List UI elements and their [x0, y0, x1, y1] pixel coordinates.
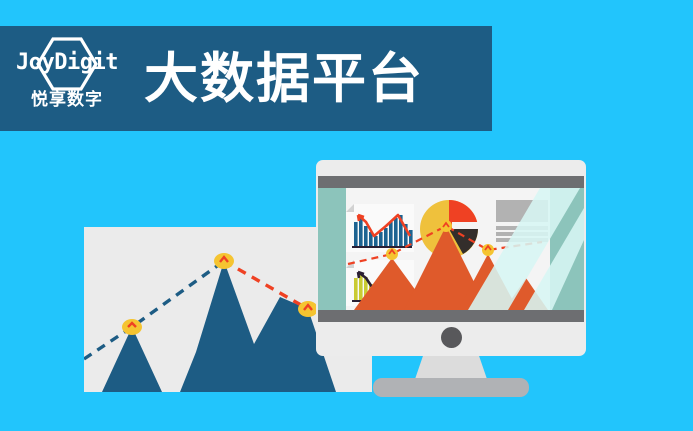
illustration-canvas: JoyDigit 悦享数字 大数据平台	[0, 0, 693, 431]
card-fold-corner	[346, 204, 354, 212]
placeholder-image-block	[496, 200, 548, 222]
monitor-screen	[318, 188, 584, 310]
orange-mountain-small-right	[504, 278, 548, 310]
logo-subtitle: 悦享数字	[31, 85, 103, 110]
monitor-camera-dot	[441, 327, 462, 348]
monitor-stand-base	[373, 378, 529, 397]
screen-left-sidebar	[318, 188, 346, 310]
header-banner: JoyDigit 悦享数字 大数据平台	[0, 26, 492, 131]
monitor-bottom-bar	[318, 310, 584, 322]
page-title: 大数据平台	[144, 52, 424, 106]
screen-right-sidebar	[550, 188, 584, 310]
brand-logo: JoyDigit 悦享数字	[8, 33, 126, 125]
logo-wordmark: JoyDigit	[16, 50, 118, 75]
monitor-top-bar	[318, 176, 584, 188]
orange-mountain-chart	[346, 220, 550, 310]
desktop-monitor	[316, 160, 586, 356]
